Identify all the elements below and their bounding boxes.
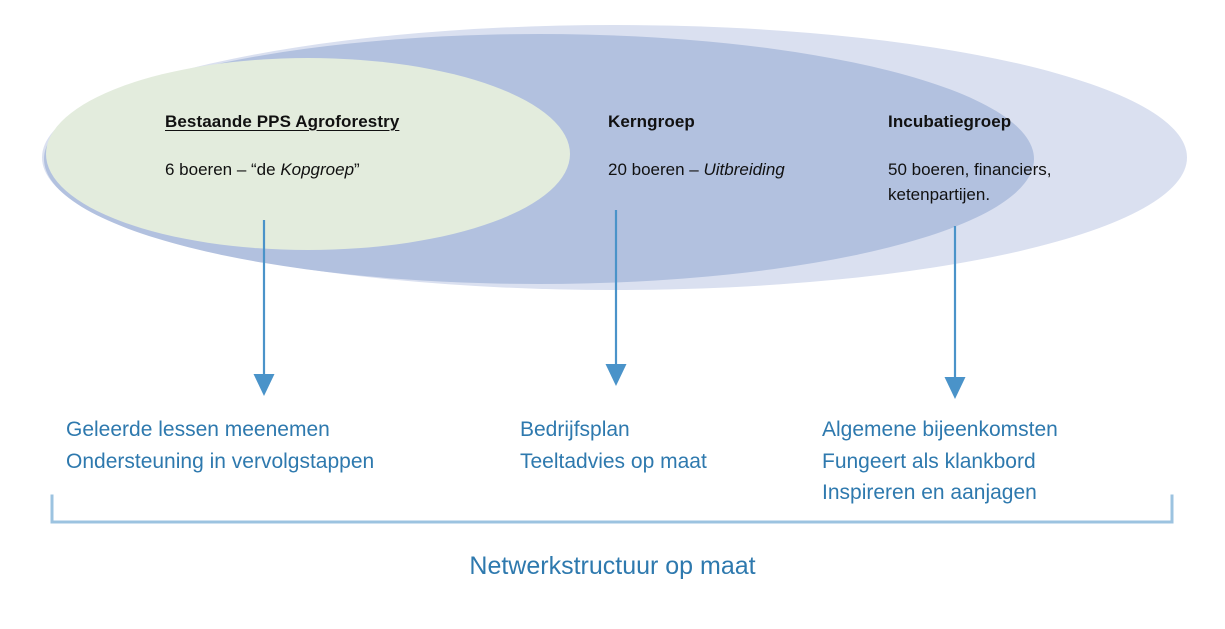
group-subtitle-incubatiegroep: 50 boeren, financiers, ketenpartijen.	[888, 158, 1118, 207]
group-label-incubatiegroep: Incubatiegroep 50 boeren, financiers, ke…	[888, 112, 1118, 208]
group-subtitle-prefix-1: 20 boeren –	[608, 160, 703, 179]
outcome-text-kopgroep: Geleerde lessen meenemen Ondersteuning i…	[66, 414, 374, 477]
group-subtitle-emphasis-1: Uitbreiding	[703, 160, 784, 179]
group-subtitle-emphasis-0: Kopgroep	[280, 160, 354, 179]
diagram-caption: Netwerkstructuur op maat	[0, 552, 1225, 581]
group-subtitle-prefix-0: 6 boeren – “de	[165, 160, 280, 179]
arrow-incubatiegroep-head-icon	[945, 377, 966, 399]
group-subtitle-suffix-0: ”	[354, 160, 360, 179]
diagram-canvas: Bestaande PPS Agroforestry 6 boeren – “d…	[0, 0, 1225, 629]
outcome-text-kerngroep: Bedrijfsplan Teeltadvies op maat	[520, 414, 707, 477]
outcome-text-incubatiegroep: Algemene bijeenkomsten Fungeert als klan…	[822, 414, 1058, 509]
arrow-kerngroep-head-icon	[606, 364, 627, 386]
group-title-bestaande-pps-agroforestry: Bestaande PPS Agroforestry	[165, 112, 399, 132]
group-label-bestaande-pps-agroforestry: Bestaande PPS Agroforestry 6 boeren – “d…	[165, 112, 399, 183]
group-subtitle-kerngroep: 20 boeren – Uitbreiding	[608, 158, 785, 183]
group-subtitle-bestaande-pps-agroforestry: 6 boeren – “de Kopgroep”	[165, 158, 399, 183]
arrow-kopgroep-head-icon	[254, 374, 275, 396]
group-title-kerngroep: Kerngroep	[608, 112, 785, 132]
group-title-incubatiegroep: Incubatiegroep	[888, 112, 1118, 132]
group-label-kerngroep: Kerngroep 20 boeren – Uitbreiding	[608, 112, 785, 183]
